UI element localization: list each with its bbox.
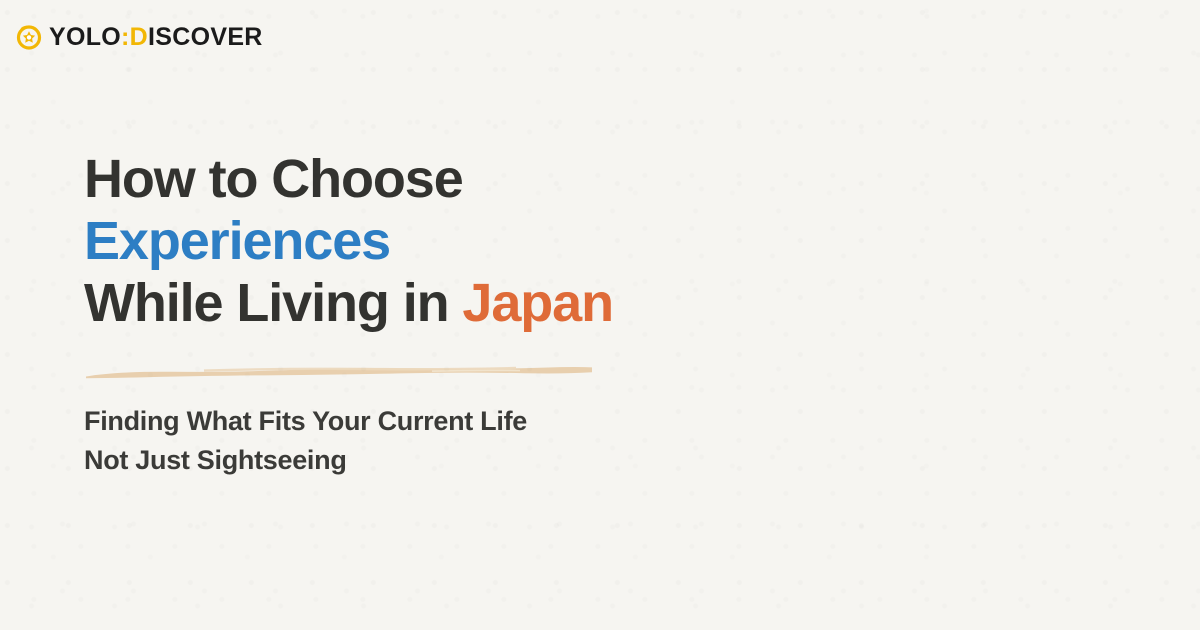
- page-title: How to Choose Experiences While Living i…: [84, 148, 644, 334]
- scroll-bottom-rod: [1024, 226, 1104, 237]
- yolo-badge-icon: [16, 24, 42, 50]
- boy-cheek-left: [906, 338, 930, 352]
- subtitle-line-2: Not Just Sightseeing: [84, 441, 624, 480]
- headline-line-3: While Living in Japan: [84, 272, 644, 334]
- boy-ear: [1006, 316, 1024, 344]
- cup-tea: [875, 372, 933, 385]
- window-garden: [730, 92, 920, 412]
- logo-word-discover: ISCOVER: [148, 23, 263, 51]
- mount-fuji-scroll: [1024, 52, 1104, 237]
- page-subtitle: Finding What Fits Your Current Life Not …: [84, 402, 624, 480]
- banner-root: YOLO:DISCOVER How to Choose Experiences …: [0, 0, 1200, 630]
- logo-word-separator: :D: [121, 23, 148, 51]
- scroll-top-rod: [1024, 76, 1104, 87]
- site-logo[interactable]: YOLO:DISCOVER: [16, 24, 263, 50]
- glasses-lens-right: [1044, 558, 1096, 598]
- table-leg: [692, 594, 750, 630]
- cup-saucer-base: [886, 419, 922, 429]
- boy-eye-right: [978, 311, 991, 329]
- headline-line-2: Experiences: [84, 210, 644, 272]
- japanese-room-illustration: [600, 0, 1200, 630]
- glasses-lens-left: [986, 564, 1038, 604]
- boy-eye-left: [924, 315, 937, 333]
- headline-highlight-japan: Japan: [462, 273, 613, 333]
- subtitle-line-1: Finding What Fits Your Current Life: [84, 402, 624, 441]
- scroll-sun: [1062, 106, 1092, 136]
- boy-cheek-right: [984, 335, 1008, 349]
- logo-wordmark: YOLO:DISCOVER: [49, 25, 263, 50]
- teapot-knob: [1166, 441, 1190, 455]
- logo-word-yolo: YOLO: [49, 23, 121, 51]
- brush-stroke-divider: [84, 365, 594, 379]
- headline-line-1: How to Choose: [84, 148, 644, 210]
- headline-line-3-text: While Living in: [84, 273, 462, 333]
